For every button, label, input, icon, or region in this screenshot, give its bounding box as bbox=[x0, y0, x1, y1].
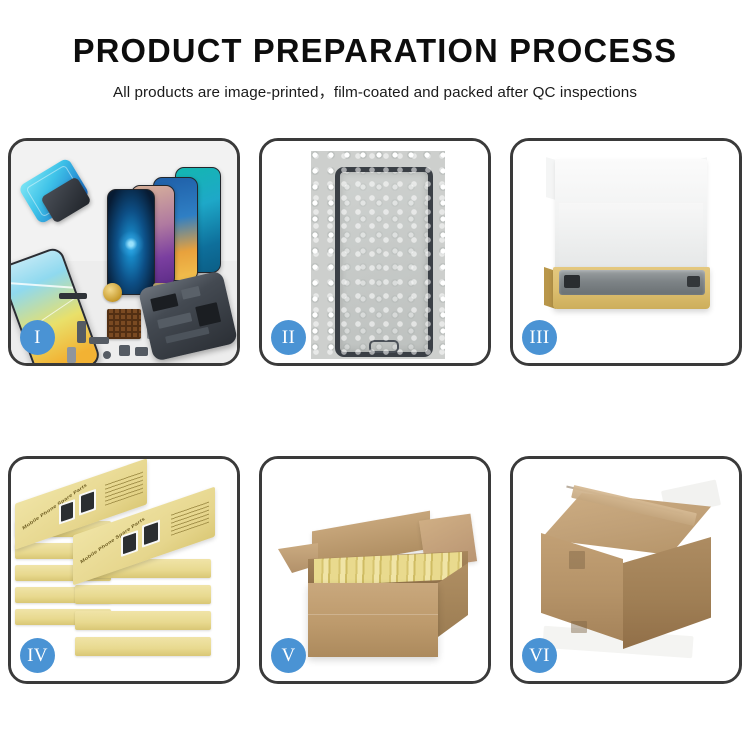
sim-tray-icon bbox=[67, 347, 76, 363]
bubble-wrap-surface bbox=[311, 151, 445, 359]
process-step-panel-v[interactable]: V bbox=[259, 456, 491, 684]
stacked-box bbox=[75, 611, 211, 630]
speaker-icon bbox=[119, 345, 130, 356]
step-badge-iii: III bbox=[522, 320, 557, 355]
process-step-panel-vi[interactable]: VI bbox=[510, 456, 742, 684]
wrapped-screen-icon bbox=[335, 167, 433, 357]
step-badge-iv: IV bbox=[20, 638, 55, 673]
page-header: PRODUCT PREPARATION PROCESS All products… bbox=[0, 0, 750, 102]
taptic-icon bbox=[135, 347, 148, 356]
stacked-box bbox=[75, 585, 211, 604]
ribbon-icon bbox=[89, 337, 109, 344]
box-spec-lines bbox=[105, 471, 143, 506]
step-badge-v: V bbox=[271, 638, 306, 673]
box-art-thumb bbox=[79, 489, 96, 516]
foam-insert-icon bbox=[559, 203, 703, 267]
box-art-thumb bbox=[142, 519, 160, 547]
process-step-panel-i[interactable]: I bbox=[8, 138, 240, 366]
step-badge-ii: II bbox=[271, 320, 306, 355]
process-step-grid: I II III bbox=[8, 138, 742, 684]
vibration-motor-icon bbox=[103, 283, 122, 302]
page-subtitle: All products are image-printed，film-coat… bbox=[0, 80, 750, 102]
carton-crease bbox=[569, 551, 585, 569]
connector-icon bbox=[77, 321, 86, 343]
box-art-thumb bbox=[59, 499, 75, 525]
stacked-box bbox=[75, 637, 211, 656]
box-art-thumb bbox=[121, 530, 138, 557]
process-step-panel-ii[interactable]: II bbox=[259, 138, 491, 366]
box-label-text: Mobile Phone Spare Parts bbox=[22, 482, 88, 531]
carton-seam bbox=[308, 614, 438, 615]
process-step-panel-iv[interactable]: Mobile Phone Spare Parts Mobile Phone Sp… bbox=[8, 456, 240, 684]
carton-crease bbox=[571, 621, 587, 633]
box-spec-lines bbox=[171, 501, 209, 536]
packed-screen-icon bbox=[559, 270, 705, 295]
chip-array-icon bbox=[107, 309, 141, 339]
page-title: PRODUCT PREPARATION PROCESS bbox=[4, 34, 747, 67]
step-badge-vi: VI bbox=[522, 638, 557, 673]
carton-front-panel bbox=[308, 583, 438, 657]
flex-cable-icon bbox=[59, 293, 87, 299]
step-badge-i: I bbox=[20, 320, 55, 355]
screw-icon bbox=[103, 351, 111, 359]
process-step-panel-iii[interactable]: III bbox=[510, 138, 742, 366]
